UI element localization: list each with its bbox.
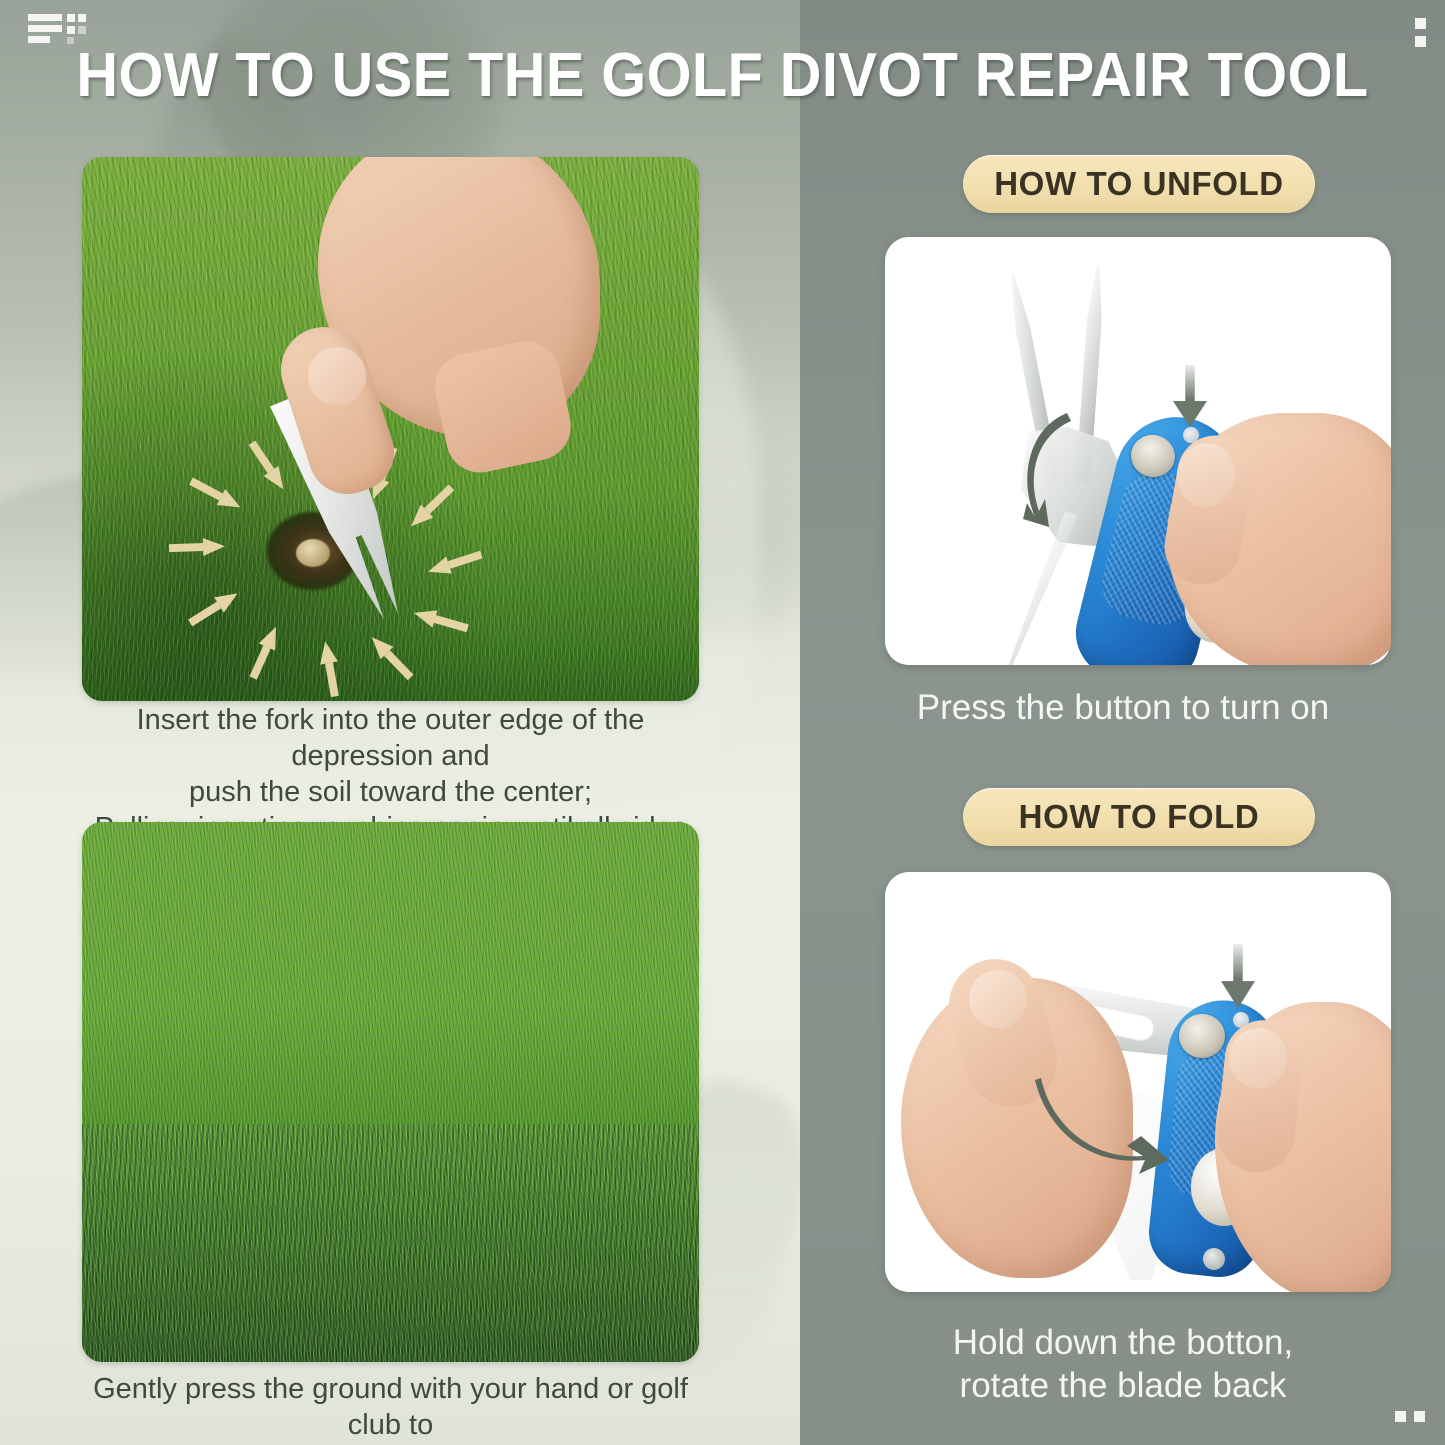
two-squares-horizontal-icon	[1395, 1411, 1429, 1423]
page-title: HOW TO USE THE GOLF DIVOT REPAIR TOOL	[51, 40, 1395, 111]
fold-caption: Hold down the botton, rotate the blade b…	[805, 1322, 1441, 1407]
caption-line: rotate the blade back	[805, 1365, 1441, 1408]
caption-line: Insert the fork into the outer edge of t…	[82, 703, 699, 775]
grass-close-up-photo	[82, 822, 699, 1362]
badge-how-to-unfold: HOW TO UNFOLD	[963, 155, 1315, 213]
fork-ghost-tail	[998, 511, 1078, 665]
badge-how-to-fold: HOW TO FOLD	[963, 788, 1315, 846]
unfold-demo-photo	[885, 237, 1391, 665]
caption-line: Hold down the botton,	[805, 1322, 1441, 1365]
infographic-page: HOW TO USE THE GOLF DIVOT REPAIR TOOL In…	[0, 0, 1445, 1445]
caption-line: push the soil toward the center;	[82, 775, 699, 811]
tool-release-button	[1179, 1014, 1225, 1058]
divot-repair-photo	[82, 157, 699, 701]
unfold-caption: Press the button to turn on	[805, 688, 1441, 728]
inward-arrow	[203, 537, 226, 556]
rotate-open-arrow	[1005, 395, 1079, 531]
badge-label: HOW TO FOLD	[1019, 798, 1260, 836]
press-down-arrow	[1221, 944, 1255, 1008]
rotate-closed-arrow	[1035, 1068, 1185, 1178]
divot-soil-clump	[296, 539, 330, 567]
inward-arrow	[316, 640, 338, 665]
fold-demo-photo	[885, 872, 1391, 1292]
two-squares-vertical-icon	[1415, 18, 1427, 52]
caption-line: Gently press the ground with your hand o…	[82, 1372, 699, 1444]
caption-line: Press the button to turn on	[805, 688, 1441, 728]
tool-screw	[1203, 1248, 1225, 1270]
badge-label: HOW TO UNFOLD	[994, 165, 1284, 203]
grass-blades-foreground	[82, 1124, 699, 1362]
step-2-caption: Gently press the ground with your hand o…	[82, 1372, 699, 1445]
